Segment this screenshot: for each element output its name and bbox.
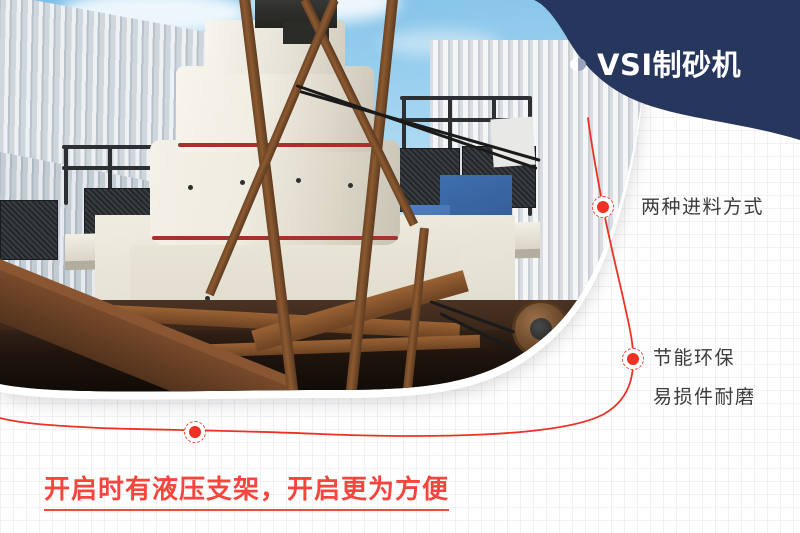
bullet-dot-icon — [570, 58, 586, 71]
feature-label-1: 两种进料方式 — [641, 192, 764, 219]
feature-marker-2 — [622, 348, 644, 370]
feature-marker-1 — [592, 196, 614, 218]
bottom-caption: 开启时有液压支架，开启更为方便 — [44, 469, 449, 511]
page-title: VSI制砂机 — [597, 42, 741, 84]
infographic-canvas: VSI制砂机 两种进料方式 节能环保 易损件耐磨 开启时有液压支架，开启更为方便 — [0, 0, 800, 533]
feature-label-3: 易损件耐磨 — [653, 382, 756, 409]
caption-marker — [184, 421, 206, 443]
feature-label-2: 节能环保 — [653, 343, 735, 370]
